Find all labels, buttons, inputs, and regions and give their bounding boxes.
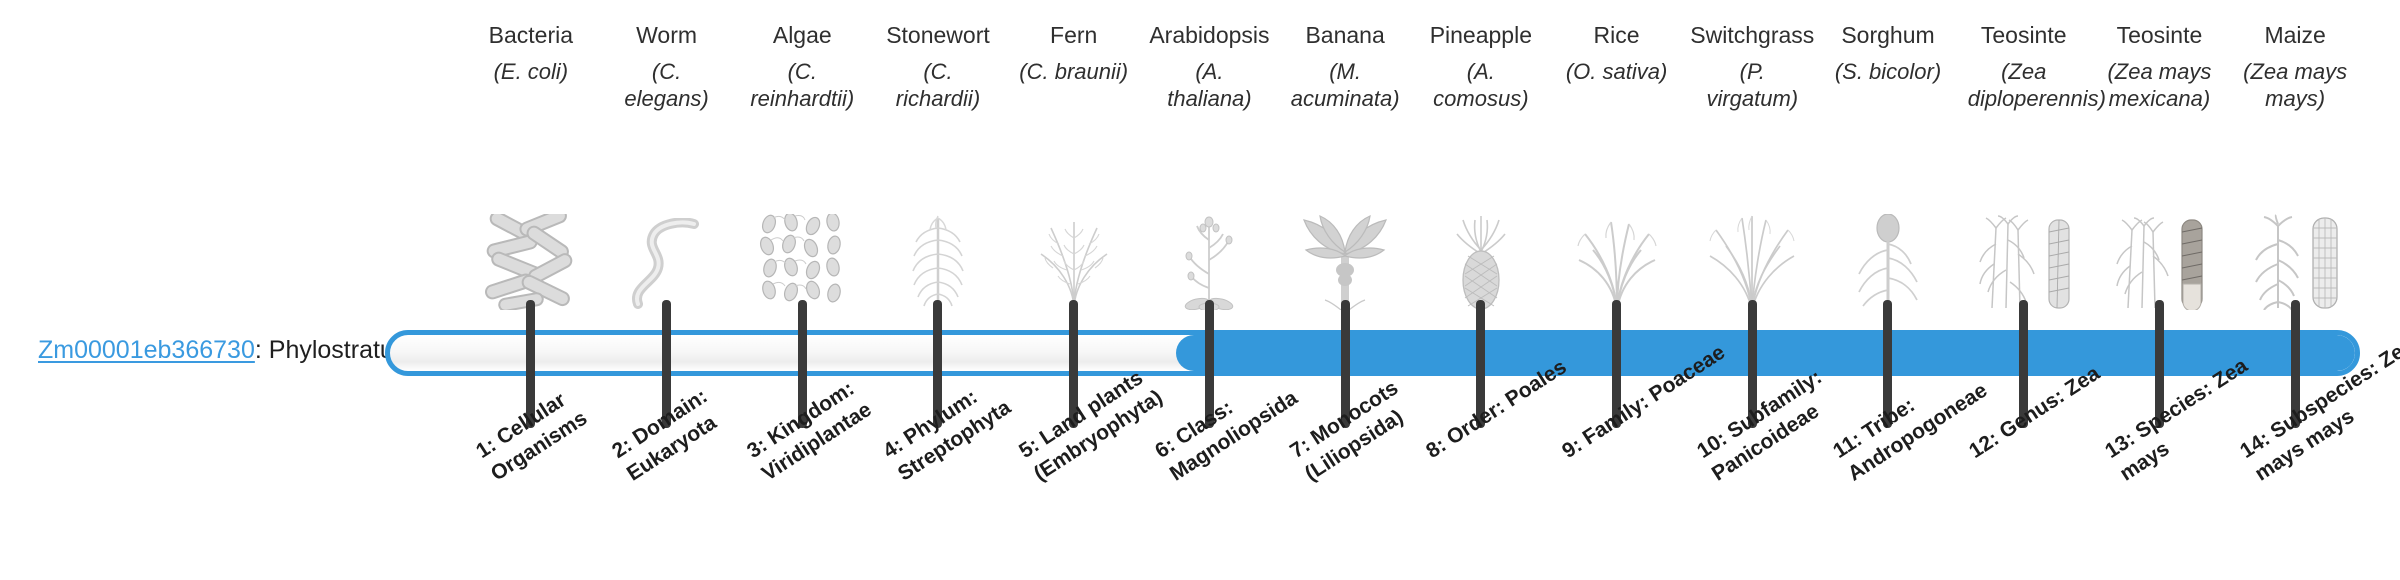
species-column-maize: Maize (Zea mays mays): [2227, 20, 2363, 310]
species-column-arabidopsis: Arabidopsis (A. thaliana): [1142, 20, 1278, 310]
stonewort-icon: [870, 212, 1006, 310]
teosinte-diploperennis-icon: [1956, 212, 2092, 310]
phylostratum-widget: Zm00001eb366730: Phylostratum 6 Bacteria…: [0, 0, 2400, 580]
species-column-rice: Rice (O. sativa): [1549, 20, 1685, 310]
switchgrass-icon: [1684, 212, 1820, 310]
species-column-teosinte-mexicana: Teosinte (Zea mays mexicana): [2092, 20, 2228, 310]
species-scientific-name: (C. braunii): [1019, 58, 1128, 85]
species-scientific-name: (M. acuminata): [1289, 58, 1401, 112]
species-common-name: Switchgrass: [1690, 20, 1814, 50]
species-common-name: Maize: [2264, 20, 2325, 50]
rank-column-5: 5: Land plants (Embryophyta): [1006, 440, 1142, 580]
species-scientific-name: (A. thaliana): [1153, 58, 1265, 112]
sorghum-icon: [1820, 212, 1956, 310]
gene-label-separator: :: [255, 336, 269, 364]
rice-icon: [1549, 212, 1685, 310]
gene-accession-link[interactable]: Zm00001eb366730: [38, 336, 255, 364]
species-common-name: Pineapple: [1430, 20, 1532, 50]
arabidopsis-icon: [1142, 212, 1278, 310]
bacteria-icon: [463, 212, 599, 310]
worm-icon: [599, 212, 735, 310]
species-column-sorghum: Sorghum (S. bicolor): [1820, 20, 1956, 310]
species-common-name: Sorghum: [1841, 20, 1934, 50]
species-scientific-name: (P. virgatum): [1696, 58, 1808, 112]
species-common-name: Teosinte: [2117, 20, 2203, 50]
species-column-algae: Algae (C. reinhardtii): [734, 20, 870, 310]
species-common-name: Fern: [1050, 20, 1097, 50]
taxonomy-rank-labels: 1: Cellular Organisms 2: Domain: Eukaryo…: [463, 440, 2363, 580]
species-column-bacteria: Bacteria (E. coli): [463, 20, 599, 310]
rank-column-14: 14: Subspecies: Zea mays mays: [2227, 440, 2363, 580]
rank-column-9: 9: Family: Poaceae: [1549, 440, 1685, 580]
species-column-fern: Fern (C. braunii): [1006, 20, 1142, 310]
fern-icon: [1006, 212, 1142, 310]
species-common-name: Rice: [1594, 20, 1640, 50]
species-column-switchgrass: Switchgrass (P. virgatum): [1684, 20, 1820, 310]
species-scientific-name: (O. sativa): [1566, 58, 1667, 85]
species-column-pineapple: Pineapple (A. comosus): [1413, 20, 1549, 310]
species-scientific-name: (Zea mays mays): [2239, 58, 2351, 112]
phylostratum-bar-fill: [1176, 335, 2355, 371]
species-scientific-name: (Zea diploperennis): [1968, 58, 2080, 112]
phylostratum-bar[interactable]: [385, 330, 2360, 376]
gene-label: Zm00001eb366730: Phylostratum 6: [38, 335, 436, 365]
species-column-banana: Banana (M. acuminata): [1277, 20, 1413, 310]
species-scientific-name: (S. bicolor): [1835, 58, 1941, 85]
species-common-name: Stonewort: [886, 20, 990, 50]
algae-icon: [734, 212, 870, 310]
species-scientific-name: (Zea mays mexicana): [2103, 58, 2215, 112]
phylostratum-bar-track: [385, 330, 2360, 376]
species-column-stonewort: Stonewort (C. richardii): [870, 20, 1006, 310]
species-scientific-name: (A. comosus): [1425, 58, 1537, 112]
species-common-name: Bacteria: [489, 20, 573, 50]
species-common-name: Banana: [1305, 20, 1384, 50]
rank-column-11: 11: Tribe: Andropogoneae: [1820, 440, 1956, 580]
species-common-name: Algae: [773, 20, 832, 50]
rank-column-8: 8: Order: Poales: [1413, 440, 1549, 580]
species-column-worm: Worm (C. elegans): [599, 20, 735, 310]
rank-column-2: 2: Domain: Eukaryota: [599, 440, 735, 580]
rank-column-1: 1: Cellular Organisms: [463, 440, 599, 580]
pineapple-icon: [1413, 212, 1549, 310]
species-common-name: Teosinte: [1981, 20, 2067, 50]
species-scientific-name: (C. reinhardtii): [746, 58, 858, 112]
species-columns: Bacteria (E. coli): [463, 20, 2363, 310]
species-common-name: Arabidopsis: [1149, 20, 1269, 50]
rank-column-13: 13: Species: Zea mays: [2092, 440, 2228, 580]
species-scientific-name: (E. coli): [494, 58, 569, 85]
maize-icon: [2227, 212, 2363, 310]
species-column-teosinte-diploperennis: Teosinte (Zea diploperennis): [1956, 20, 2092, 310]
rank-column-3: 3: Kingdom: Viridiplantae: [734, 440, 870, 580]
rank-column-10: 10: Subfamily: Panicoideae: [1684, 440, 1820, 580]
banana-icon: [1277, 212, 1413, 310]
species-scientific-name: (C. elegans): [611, 58, 723, 112]
species-scientific-name: (C. richardii): [882, 58, 994, 112]
rank-column-6: 6: Class: Magnoliopsida: [1142, 440, 1278, 580]
rank-column-7: 7: Monocots (Liliopsida): [1277, 440, 1413, 580]
rank-column-4: 4: Phylum: Streptophyta: [870, 440, 1006, 580]
teosinte-mexicana-icon: [2092, 212, 2228, 310]
species-common-name: Worm: [636, 20, 697, 50]
rank-column-12: 12: Genus: Zea: [1956, 440, 2092, 580]
